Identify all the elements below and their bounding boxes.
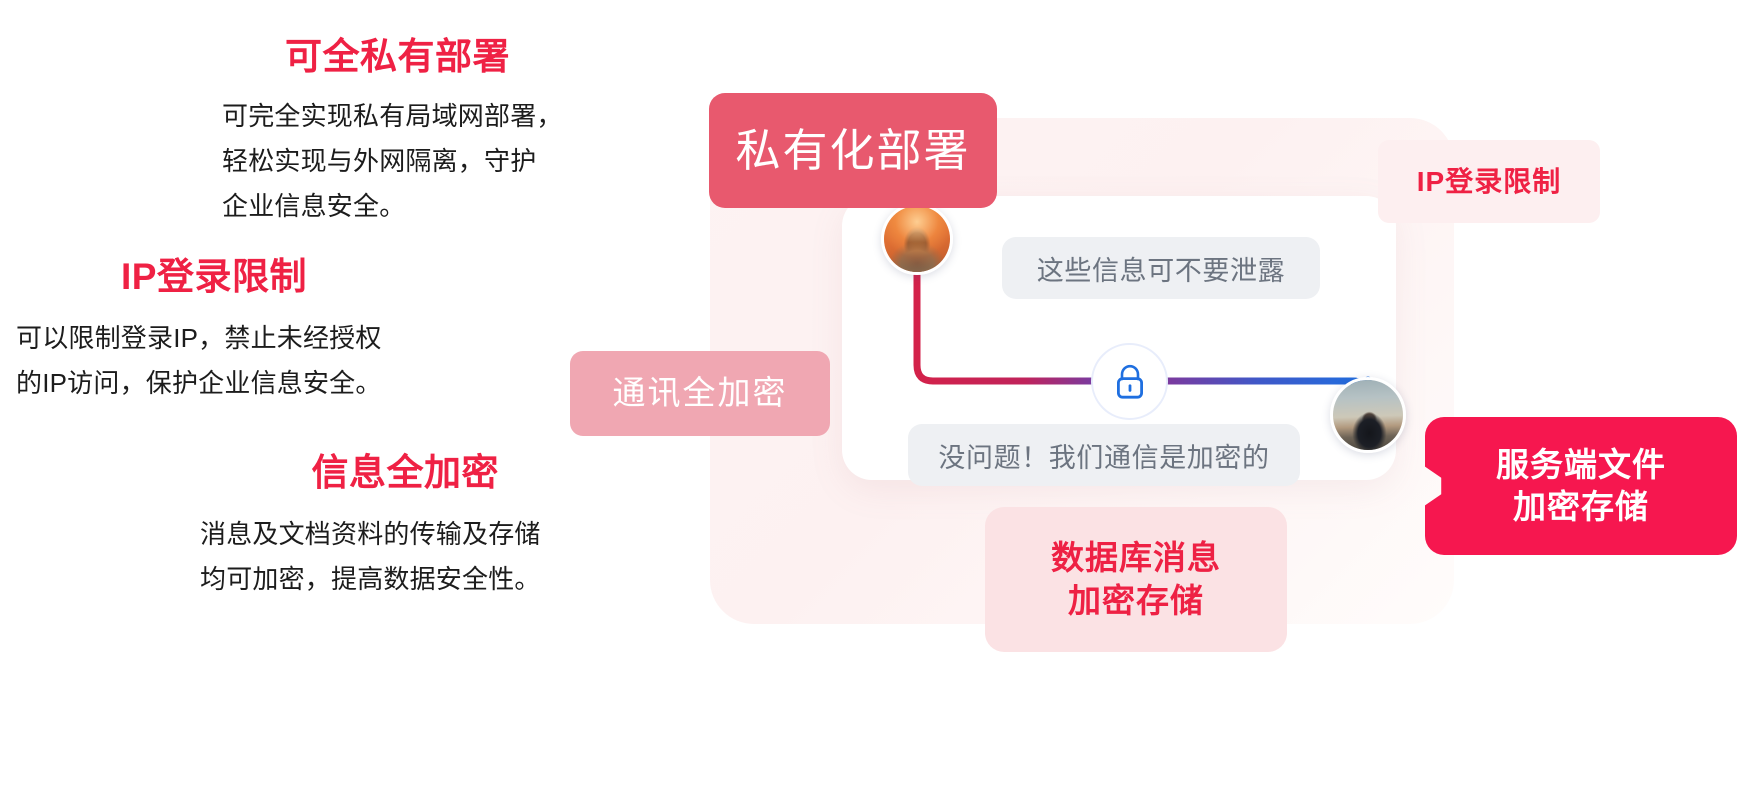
feature-block-message-encryption: 信息全加密 消息及文档资料的传输及存储 均可加密，提高数据安全性。 [200,452,541,602]
user-avatar-photo [884,206,950,272]
feature-block-private-deploy: 可全私有部署 可完全实现私有局域网部署， 轻松实现与外网隔离，守护 企业信息安全… [222,36,563,229]
tag-server-file-encrypted-label: 服务端文件 加密存储 [1496,444,1666,528]
user-avatar [881,203,953,275]
agent-avatar-photo [1333,380,1403,450]
tag-server-file-encrypted: 服务端文件 加密存储 [1425,417,1737,555]
feature-title-private-deploy: 可全私有部署 [285,36,563,79]
tag-communication-encrypted: 通讯全加密 [570,351,830,436]
encryption-lock-badge [1091,343,1168,420]
tag-ip-login-restriction: IP登录限制 [1378,140,1600,223]
infographic-canvas: 可全私有部署 可完全实现私有局域网部署， 轻松实现与外网隔离，守护 企业信息安全… [0,0,1762,806]
tag-database-message-encrypted: 数据库消息 加密存储 [985,507,1287,652]
feature-description-private-deploy: 可完全实现私有局域网部署， 轻松实现与外网隔离，守护 企业信息安全。 [222,94,563,230]
feature-block-ip-restriction: IP登录限制 可以限制登录IP，禁止未经授权 的IP访问，保护企业信息安全。 [16,256,382,406]
feature-title-ip-restriction: IP登录限制 [121,256,382,299]
chat-bubble-agent: 没问题！我们通信是加密的 [908,424,1300,486]
feature-description-ip-restriction: 可以限制登录IP，禁止未经授权 的IP访问，保护企业信息安全。 [16,316,382,406]
feature-description-message-encryption: 消息及文档资料的传输及存储 均可加密，提高数据安全性。 [200,512,541,602]
chat-bubble-user: 这些信息可不要泄露 [1002,237,1320,299]
agent-avatar [1330,377,1406,453]
lock-icon [1113,363,1147,401]
feature-title-message-encryption: 信息全加密 [270,452,541,495]
tag-private-deployment: 私有化部署 [709,93,997,208]
